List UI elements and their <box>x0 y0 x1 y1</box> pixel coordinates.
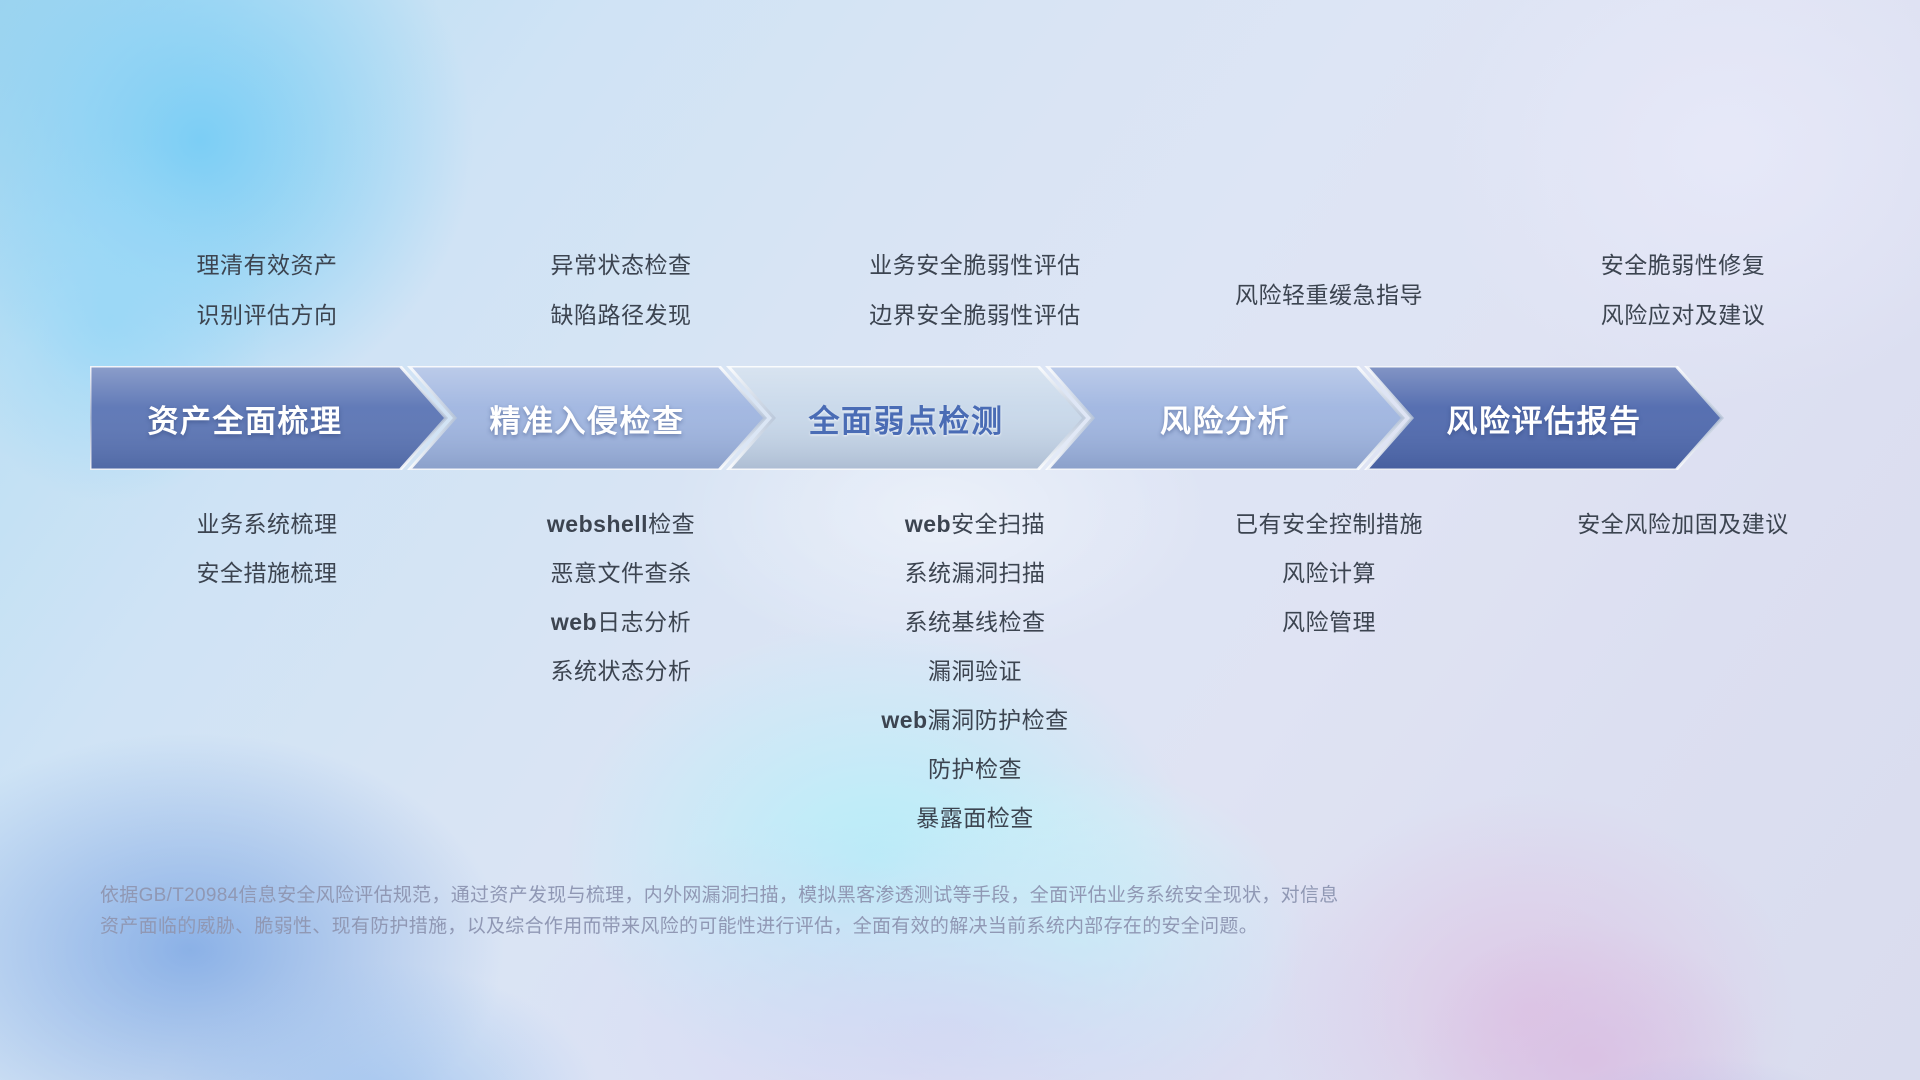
detail-item-cn: 系统状态分析 <box>551 658 692 684</box>
detail-item-en: web <box>551 609 597 635</box>
top-label: 边界安全脆弱性评估 <box>869 290 1081 340</box>
detail-item-cn: 漏洞防护检查 <box>928 707 1069 733</box>
footer-note: 依据GB/T20984信息安全风险评估规范，通过资产发现与梳理，内外网漏洞扫描，… <box>100 880 1610 942</box>
top-label-column-intrusion-check: 异常状态检查缺陷路径发现 <box>444 240 798 350</box>
detail-item: web安全扫描 <box>905 500 1045 549</box>
detail-item-cn: 恶意文件查杀 <box>551 560 692 586</box>
detail-column-asset-inventory: 业务系统梳理安全措施梳理 <box>90 500 444 598</box>
detail-item-en: web <box>905 511 951 537</box>
detail-item-en: webshell <box>547 511 648 537</box>
detail-item: 安全措施梳理 <box>197 549 338 598</box>
detail-column-weakness-detection: web安全扫描系统漏洞扫描系统基线检查漏洞验证web漏洞防护检查防护检查暴露面检… <box>798 500 1152 843</box>
detail-item: 暴露面检查 <box>916 794 1034 843</box>
detail-item-en: web <box>881 707 927 733</box>
detail-item-cn: 系统漏洞扫描 <box>905 560 1046 586</box>
detail-item: 安全风险加固及建议 <box>1577 500 1789 549</box>
top-label: 异常状态检查 <box>551 240 692 290</box>
detail-item: webshell检查 <box>547 500 695 549</box>
top-labels-row: 理清有效资产识别评估方向异常状态检查缺陷路径发现业务安全脆弱性评估边界安全脆弱性… <box>90 240 1860 350</box>
detail-item-cn: 安全措施梳理 <box>197 560 338 586</box>
chevron-shading-asset-inventory <box>90 366 446 470</box>
detail-item: web漏洞防护检查 <box>881 696 1068 745</box>
detail-column-intrusion-check: webshell检查恶意文件查杀web日志分析系统状态分析 <box>444 500 798 696</box>
chevron-shading-risk-report <box>1366 366 1722 470</box>
detail-item-cn: 日志分析 <box>597 609 691 635</box>
top-label-column-risk-analysis: 风险轻重缓急指导 <box>1152 240 1506 350</box>
top-label: 业务安全脆弱性评估 <box>869 240 1081 290</box>
detail-item-cn: 已有安全控制措施 <box>1235 511 1423 537</box>
chevron-shading-risk-analysis <box>1047 366 1403 470</box>
bottom-detail-columns: 业务系统梳理安全措施梳理webshell检查恶意文件查杀web日志分析系统状态分… <box>90 500 1860 843</box>
detail-item: 系统状态分析 <box>551 647 692 696</box>
footer-line-2: 资产面临的威胁、脆弱性、现有防护措施，以及综合作用而带来风险的可能性进行评估，全… <box>100 911 1610 942</box>
detail-item: 系统基线检查 <box>905 598 1046 647</box>
detail-item-cn: 安全风险加固及建议 <box>1577 511 1789 537</box>
process-chevron-banner: 资产全面梳理精准入侵检查全面弱点检测风险分析风险评估报告 <box>90 366 1860 470</box>
detail-item-cn: 业务系统梳理 <box>197 511 338 537</box>
detail-column-risk-report: 安全风险加固及建议 <box>1506 500 1860 549</box>
top-label-column-weakness-detection: 业务安全脆弱性评估边界安全脆弱性评估 <box>798 240 1152 350</box>
detail-item: 恶意文件查杀 <box>551 549 692 598</box>
detail-item-cn: 风险管理 <box>1282 609 1376 635</box>
top-label: 安全脆弱性修复 <box>1601 240 1766 290</box>
detail-item-cn: 暴露面检查 <box>916 805 1034 831</box>
detail-item-cn: 安全扫描 <box>951 511 1045 537</box>
top-label: 缺陷路径发现 <box>551 290 692 340</box>
detail-item: 系统漏洞扫描 <box>905 549 1046 598</box>
top-label-column-risk-report: 安全脆弱性修复风险应对及建议 <box>1506 240 1860 350</box>
infographic-content: 理清有效资产识别评估方向异常状态检查缺陷路径发现业务安全脆弱性评估边界安全脆弱性… <box>0 0 1920 1080</box>
detail-item: web日志分析 <box>551 598 691 647</box>
top-label: 风险轻重缓急指导 <box>1235 282 1423 308</box>
top-label-column-asset-inventory: 理清有效资产识别评估方向 <box>90 240 444 350</box>
top-label: 风险应对及建议 <box>1601 290 1766 340</box>
detail-item: 业务系统梳理 <box>197 500 338 549</box>
detail-item-cn: 漏洞验证 <box>928 658 1022 684</box>
top-label: 识别评估方向 <box>197 290 338 340</box>
detail-item-cn: 系统基线检查 <box>905 609 1046 635</box>
detail-column-risk-analysis: 已有安全控制措施风险计算风险管理 <box>1152 500 1506 647</box>
chevron-svg <box>90 366 1860 470</box>
detail-item: 防护检查 <box>928 745 1022 794</box>
detail-item: 风险管理 <box>1282 598 1376 647</box>
detail-item: 风险计算 <box>1282 549 1376 598</box>
detail-item: 已有安全控制措施 <box>1235 500 1423 549</box>
detail-item-cn: 检查 <box>648 511 695 537</box>
detail-item-cn: 防护检查 <box>928 756 1022 782</box>
chevron-shading-weakness-detection <box>728 366 1084 470</box>
detail-item-cn: 风险计算 <box>1282 560 1376 586</box>
detail-item: 漏洞验证 <box>928 647 1022 696</box>
footer-line-1: 依据GB/T20984信息安全风险评估规范，通过资产发现与梳理，内外网漏洞扫描，… <box>100 880 1610 911</box>
chevron-shading-intrusion-check <box>409 366 765 470</box>
top-label: 理清有效资产 <box>197 240 338 290</box>
